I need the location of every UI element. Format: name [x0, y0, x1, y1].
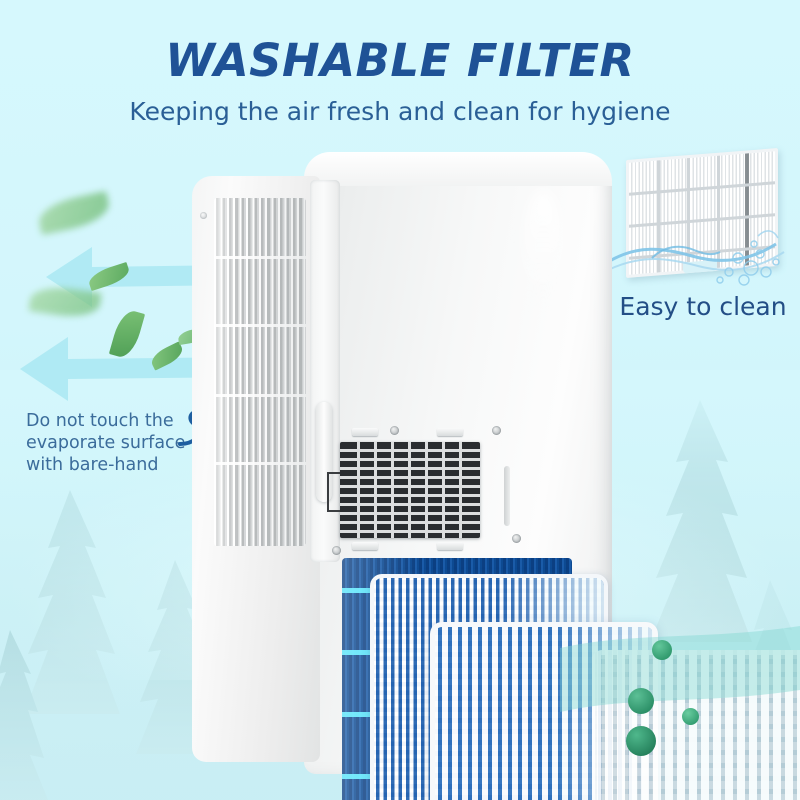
sensor-dot [200, 212, 207, 219]
panel-clip [437, 428, 463, 436]
easy-to-clean-caption: Easy to clean [608, 292, 798, 321]
panel-clip [352, 542, 378, 550]
page-subtitle: Keeping the air fresh and clean for hygi… [0, 97, 800, 126]
infographic-canvas: WASHABLE FILTER Keeping the air fresh an… [0, 0, 800, 800]
cabinet-highlight [522, 190, 564, 310]
portable-air-conditioner [192, 150, 612, 790]
screw [492, 426, 501, 435]
panel-clip [352, 428, 378, 436]
airflow-band-right [560, 618, 800, 738]
germ-particle [652, 640, 672, 660]
germ-particle [626, 726, 656, 756]
panel-clip [437, 542, 463, 550]
page-title: WASHABLE FILTER [0, 34, 800, 87]
exhaust-vent-grid [340, 442, 480, 538]
water-splash-icon [608, 140, 800, 290]
germ-particle [628, 688, 654, 714]
vent-slot [504, 466, 510, 526]
cabinet-top [304, 152, 612, 186]
warning-line-3: with bare-hand [26, 454, 216, 476]
washable-filter-inset [608, 140, 800, 290]
vent-bracket [327, 472, 340, 512]
screw [332, 546, 341, 555]
screw [512, 534, 521, 543]
screw [390, 426, 399, 435]
side-intake-grille [214, 198, 306, 546]
germ-particle [682, 708, 699, 725]
